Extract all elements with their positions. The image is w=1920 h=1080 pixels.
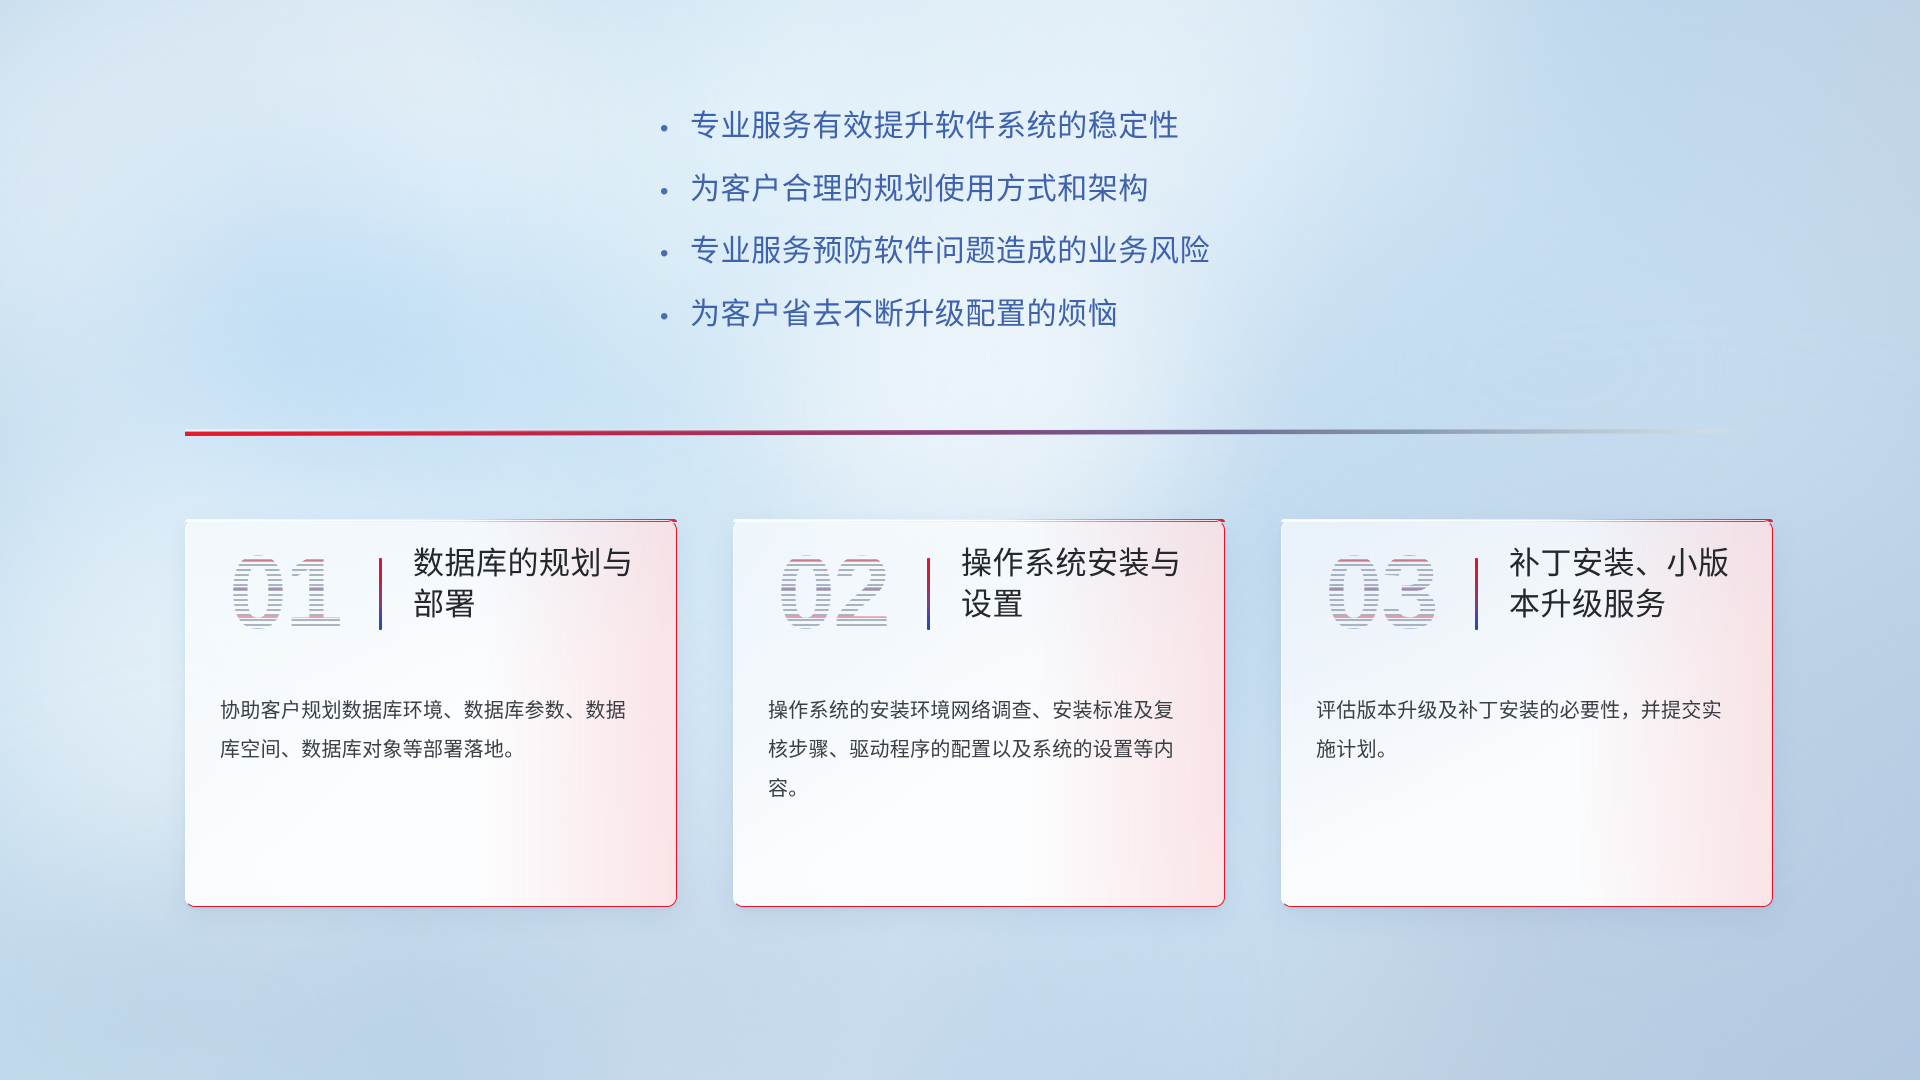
card-title-02: 操作系统安装与设置 <box>961 544 1207 626</box>
service-card-02[interactable]: 02 02 02 操作系统安装与设置 操作系统的安装环境网络调查、安装标准及复核… <box>733 520 1225 907</box>
service-card-01[interactable]: 01 01 01 数据库的规划与部署 协助客户规划数据库环境、数据库参数、数据库… <box>185 520 677 907</box>
bullet-item-4: • 为客户省去不断升级配置的烦恼 <box>660 296 1420 334</box>
bullet-text-2: 为客户合理的规划使用方式和架构 <box>690 171 1149 209</box>
bullet-text-4: 为客户省去不断升级配置的烦恼 <box>690 296 1118 334</box>
benefits-bullet-list: • 专业服务有效提升软件系统的稳定性 • 为客户合理的规划使用方式和架构 • 专… <box>660 108 1420 358</box>
card-body-03: 评估版本升级及补丁安装的必要性，并提交实施计划。 <box>1316 692 1740 770</box>
card-number-02: 02 02 02 <box>763 532 903 654</box>
service-card-03[interactable]: 03 03 03 补丁安装、小版本升级服务 评估版本升级及补丁安装的必要性，并提… <box>1281 520 1773 907</box>
bullet-text-3: 专业服务预防软件问题造成的业务风险 <box>690 233 1210 271</box>
bullet-marker-icon: • <box>660 180 690 204</box>
card-number-text: 03 <box>1325 534 1437 653</box>
card-number-03: 03 03 03 <box>1311 532 1451 654</box>
card-body-02: 操作系统的安装环境网络调查、安装标准及复核步骤、驱动程序的配置以及系统的设置等内… <box>768 692 1192 809</box>
service-cards: 01 01 01 数据库的规划与部署 协助客户规划数据库环境、数据库参数、数据库… <box>185 520 1775 907</box>
bullet-marker-icon: • <box>660 117 690 141</box>
bullet-marker-icon: • <box>660 242 690 266</box>
card-title-03: 补丁安装、小版本升级服务 <box>1509 544 1755 626</box>
bullet-item-2: • 为客户合理的规划使用方式和架构 <box>660 171 1420 209</box>
section-divider <box>185 425 1765 441</box>
card-header: 01 01 01 数据库的规划与部署 <box>185 520 677 666</box>
card-number-01: 01 01 01 <box>215 532 355 654</box>
card-accent-bar <box>927 558 930 630</box>
card-accent-bar <box>1475 558 1478 630</box>
bullet-text-1: 专业服务有效提升软件系统的稳定性 <box>690 108 1180 146</box>
card-body-01: 协助客户规划数据库环境、数据库参数、数据库空间、数据库对象等部署落地。 <box>220 692 644 770</box>
bullet-item-1: • 专业服务有效提升软件系统的稳定性 <box>660 108 1420 146</box>
card-title-01: 数据库的规划与部署 <box>413 544 659 626</box>
card-accent-bar <box>379 558 382 630</box>
card-number-text: 01 <box>229 534 341 653</box>
card-number-text: 02 <box>777 534 889 653</box>
card-header: 02 02 02 操作系统安装与设置 <box>733 520 1225 666</box>
bullet-item-3: • 专业服务预防软件问题造成的业务风险 <box>660 233 1420 271</box>
bullet-marker-icon: • <box>660 305 690 329</box>
card-header: 03 03 03 补丁安装、小版本升级服务 <box>1281 520 1773 666</box>
